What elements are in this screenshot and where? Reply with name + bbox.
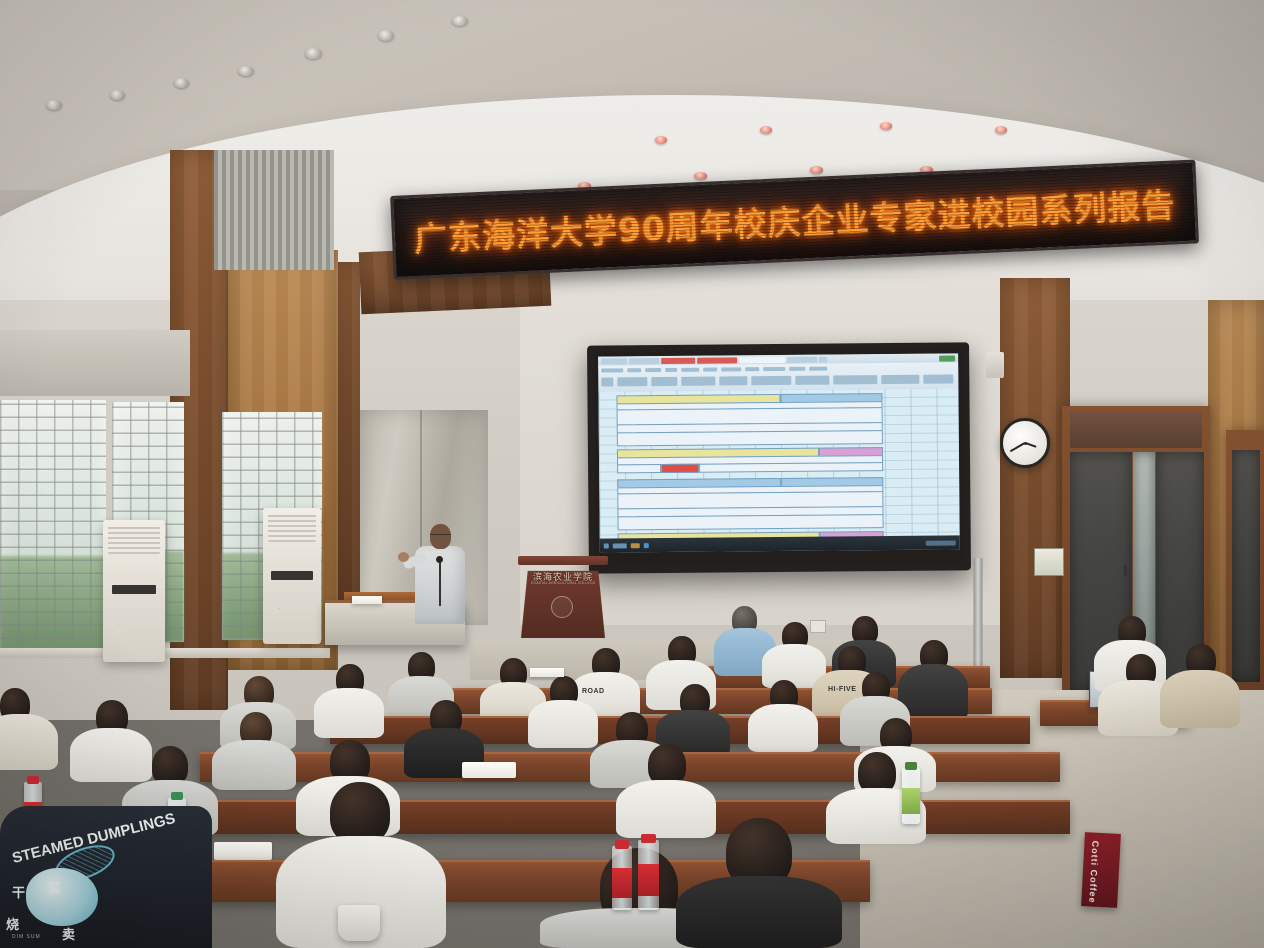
downlight-icon — [238, 66, 254, 76]
microphone-stand — [439, 560, 441, 606]
audience-torso — [676, 876, 842, 948]
tshirt-glyph-1: 干 — [12, 882, 25, 901]
ac-vent-grille-icon — [268, 514, 317, 542]
desk-row-e — [130, 800, 1070, 834]
cove-downlight-icon — [880, 122, 892, 130]
sheet-total-values — [617, 464, 661, 473]
downlight-icon — [378, 30, 394, 41]
audience-torso — [748, 704, 818, 752]
sheet-highlight-cell — [661, 464, 699, 473]
eyeglasses-icon — [430, 534, 451, 539]
projector-mount-bracket — [986, 352, 1004, 378]
tab-doc-1[interactable] — [629, 358, 659, 364]
wall-clock — [1000, 418, 1050, 468]
status-icon — [631, 543, 640, 548]
audience-head — [330, 782, 390, 844]
notebook-paper — [214, 842, 272, 860]
shirt-text-road: ROAD — [582, 688, 605, 695]
audience-torso — [528, 700, 598, 748]
tshirt-subtext: DIM SUM — [12, 934, 41, 940]
window-left-1 — [0, 400, 106, 652]
led-banner-text: 广东海洋大学90周年校庆企业专家进校园系列报告 — [413, 178, 1176, 261]
door-handle-icon[interactable] — [1124, 565, 1127, 577]
window-blind-top — [0, 330, 190, 396]
speaker-hand — [398, 552, 409, 562]
bottle-cap — [641, 834, 656, 843]
coffee-bag-text: Cotti Coffee — [1087, 840, 1100, 903]
tshirt-glyph-3: 烧 — [6, 914, 19, 933]
dumpling-tshirt: STEAMED DUMPLINGS 干 蒸 烧 卖 DIM SUM — [0, 806, 212, 948]
window-sill-left — [0, 648, 330, 658]
tab-doc-2[interactable] — [661, 357, 695, 363]
bottle-label — [612, 868, 632, 898]
window-foliage — [0, 556, 106, 652]
audience-torso — [1160, 670, 1240, 728]
downlight-icon — [174, 78, 189, 88]
desk-paper — [352, 596, 382, 604]
notebook-paper — [530, 668, 564, 677]
ac-brand-logo: · — [119, 622, 121, 628]
sheet-data-row — [617, 430, 883, 446]
bottle-cap — [615, 840, 629, 849]
water-bottle — [612, 846, 632, 910]
sheet-total-values — [699, 462, 883, 473]
audience-torso — [212, 740, 296, 790]
notebook-paper — [462, 762, 516, 778]
paper-cup — [338, 905, 380, 941]
cove-downlight-icon — [694, 172, 707, 180]
status-icon — [644, 543, 649, 548]
audience-torso — [314, 688, 384, 738]
bottle-label — [638, 864, 659, 896]
tshirt-glyph-4: 卖 — [62, 924, 75, 943]
microphone-icon — [436, 556, 443, 563]
podium-emblem-icon — [551, 596, 573, 618]
bottle-cap — [171, 792, 183, 800]
podium-english-name: COASTAL AGRICULTURAL COLLEGE — [524, 581, 602, 585]
coffee-bag: Cotti Coffee — [1081, 832, 1121, 908]
tshirt-front-text: STEAMED DUMPLINGS — [10, 810, 177, 867]
clock-center-pin — [1024, 442, 1027, 445]
ac-brand-logo: · — [278, 606, 280, 612]
downlight-icon — [110, 90, 125, 100]
bottle-cap — [905, 762, 917, 770]
shirt-text-hifive: HI-FIVE — [828, 686, 856, 693]
downlight-icon — [46, 100, 62, 110]
spreadsheet-grid[interactable] — [598, 388, 959, 538]
audience-torso — [616, 780, 716, 838]
downlight-icon — [305, 48, 322, 59]
tab-doc-3[interactable] — [697, 357, 737, 363]
login-badge[interactable] — [939, 355, 955, 361]
tshirt-arc-text-wrap: STEAMED DUMPLINGS — [10, 826, 186, 872]
status-icon — [604, 543, 609, 548]
wall-wood-panel-right — [1000, 278, 1070, 678]
ac-vent-grille-icon — [108, 526, 160, 554]
podium-top-surface — [518, 556, 608, 565]
water-bottle — [638, 840, 659, 910]
ac-control-panel — [112, 585, 157, 594]
bottle-label — [902, 788, 920, 814]
lcd-display-panel[interactable] — [587, 342, 971, 573]
audience-torso — [0, 714, 58, 770]
wall-switch-plate[interactable] — [810, 620, 826, 633]
door-transom-panel — [1070, 412, 1202, 448]
display-screen — [598, 353, 960, 552]
downlight-icon — [452, 16, 468, 26]
tshirt-glyph-2: 蒸 — [48, 878, 61, 897]
window-blind-valance — [214, 150, 334, 270]
wps-status-bar — [600, 535, 960, 552]
door-glass-far-right[interactable] — [1232, 450, 1260, 682]
ac-control-panel — [271, 571, 313, 580]
tab-add-new-icon[interactable] — [819, 356, 827, 362]
cove-downlight-icon — [810, 166, 823, 174]
wall-notice-sign — [1034, 548, 1064, 576]
sheet-data-row — [618, 514, 884, 530]
dumpling-graphic-icon — [26, 868, 98, 926]
tab-active-workbook[interactable] — [739, 356, 785, 362]
water-bottle — [902, 768, 920, 824]
air-conditioner-2: · — [263, 508, 321, 644]
wall-wood-panel-center-left — [338, 262, 360, 632]
cove-downlight-icon — [760, 126, 772, 134]
zoom-slider-icon[interactable] — [926, 540, 956, 545]
cove-downlight-icon — [655, 136, 667, 144]
audience-torso — [70, 728, 152, 782]
bottle-cap — [27, 776, 39, 784]
cove-downlight-icon — [995, 126, 1007, 134]
air-conditioner-1: · — [103, 520, 165, 662]
status-icon — [613, 543, 627, 548]
tab-doc-4[interactable] — [787, 356, 817, 362]
lecture-hall-photo: 广东海洋大学90周年校庆企业专家进校园系列报告 — [0, 0, 1264, 948]
tab-home[interactable] — [601, 358, 627, 364]
